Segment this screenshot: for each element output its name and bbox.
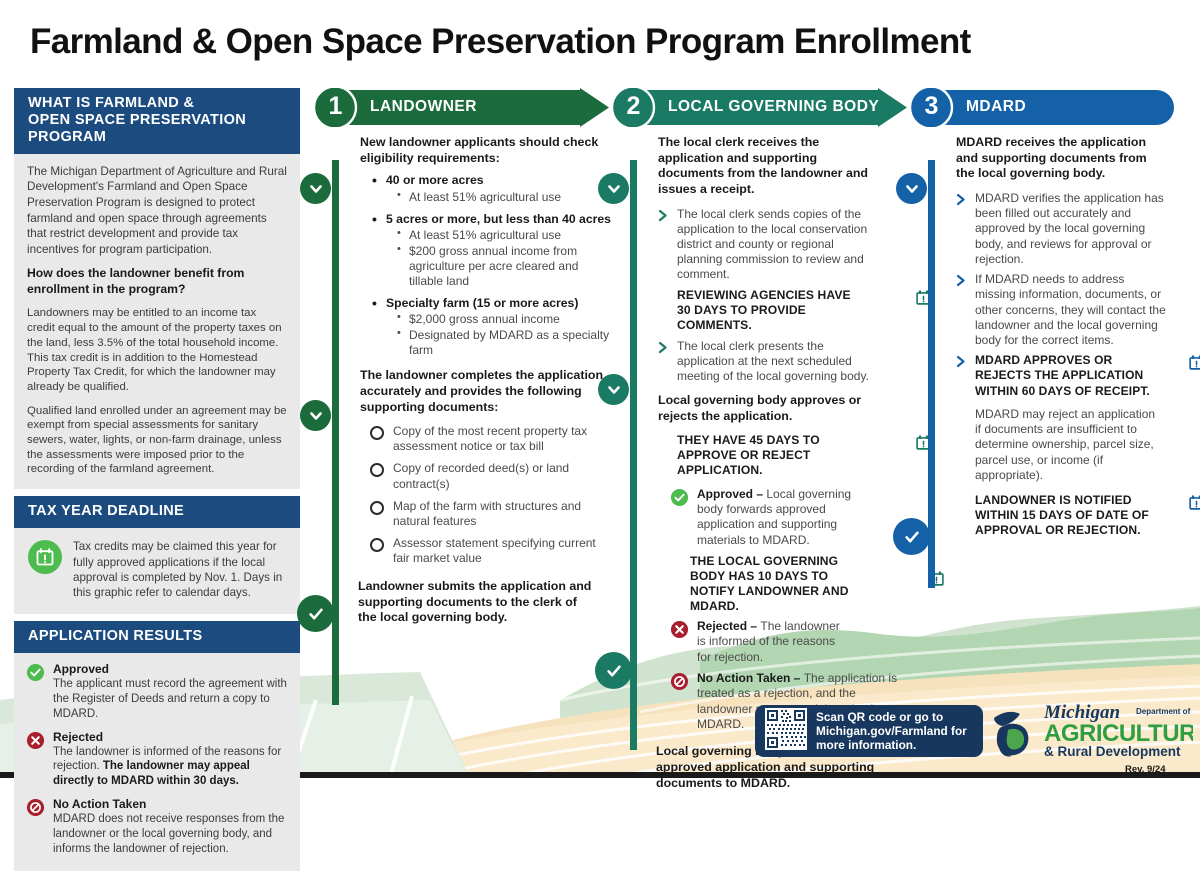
about-question: How does the landowner benefit from enro… <box>27 266 287 297</box>
step-2-label: LOCAL GOVERNING BODY <box>668 88 879 125</box>
results-panel-header: APPLICATION RESULTS <box>14 621 300 653</box>
deadline-panel-header: TAX YEAR DEADLINE <box>14 496 300 528</box>
result-title: Rejected <box>53 730 287 745</box>
step-2-result-title: Rejected – <box>697 619 760 633</box>
step-3-content: MDARD receives the application and suppo… <box>908 125 1188 538</box>
step-3-label: MDARD <box>966 88 1026 125</box>
step-1-eligibility-list: 40 or more acres At least 51% agricultur… <box>372 173 612 358</box>
step-2-result-approved: Approved – Local governing body forwards… <box>670 487 910 548</box>
step-3-final-emphasis: LANDOWNER IS NOTIFIED WITHIN 15 DAYS OF … <box>975 493 1155 538</box>
chevron-right-icon <box>956 274 967 292</box>
document-checkbox-icon[interactable] <box>370 501 384 515</box>
document-checkbox-row[interactable]: Copy of recorded deed(s) or land contrac… <box>370 461 612 491</box>
step-2-lead: The local clerk receives the application… <box>658 135 882 198</box>
step-3-arrow-text-bold: MDARD APPROVES OR REJECTS THE APPLICATIO… <box>975 353 1153 399</box>
step-3-arrow-item: If MDARD needs to address missing inform… <box>956 272 1188 348</box>
eligibility-sub-list: At least 51% agricultural use $200 gross… <box>396 228 612 289</box>
step-1-node-check <box>297 595 334 632</box>
step-2-result-title: No Action Taken – <box>697 671 804 685</box>
result-desc: The landowner is informed of the reasons… <box>53 745 287 790</box>
document-checkbox-row[interactable]: Copy of the most recent property tax ass… <box>370 424 612 454</box>
step-1-node-chevron-2 <box>300 400 331 431</box>
qr-line-2: Michigan.gov/Farmland for <box>816 724 967 738</box>
step-3-rail <box>928 160 935 588</box>
step-2-result-title: Approved – <box>697 487 766 501</box>
step-2-emphasis-3: THE LOCAL GOVERNING BODY HAS 10 DAYS TO … <box>690 554 862 614</box>
step-2-node-chevron-1 <box>598 173 629 204</box>
document-checkbox-row[interactable]: Assessor statement specifying current fa… <box>370 536 612 566</box>
result-approved: Approved The applicant must record the a… <box>26 662 287 722</box>
step-3-arrow-item: MDARD APPROVES OR REJECTS THE APPLICATIO… <box>956 353 1188 399</box>
step-2-emphasis-2: THEY HAVE 45 DAYS TO APPROVE OR REJECT A… <box>677 433 867 478</box>
eligibility-bullet-label: Specialty farm (15 or more acres) <box>386 296 578 310</box>
eligibility-sub: $2,000 gross annual income <box>396 312 612 327</box>
chevron-right-icon <box>658 209 669 227</box>
qr-code-icon[interactable] <box>765 708 807 755</box>
step-3-arrow-text: MDARD verifies the application has been … <box>975 191 1167 267</box>
results-panel-body: Approved The applicant must record the a… <box>14 653 300 871</box>
revision-label: Rev. 9/24 <box>1125 764 1166 775</box>
step-2-arrow-text: The local clerk presents the application… <box>677 339 881 385</box>
calendar-alert-icon <box>1188 494 1200 516</box>
document-checkbox-icon[interactable] <box>370 538 384 552</box>
deadline-text: Tax credits may be claimed this year for… <box>73 538 287 601</box>
step-2-arrow-item: The local clerk sends copies of the appl… <box>658 207 910 283</box>
document-checkbox-icon[interactable] <box>370 426 384 440</box>
step-2-arrow-item: The local clerk presents the application… <box>658 339 910 385</box>
step-1-number: 1 <box>315 86 356 127</box>
step-2-column: 2 LOCAL GOVERNING BODY The local clerk r… <box>610 88 910 725</box>
step-3-arrow-item: MDARD verifies the application has been … <box>956 191 1188 267</box>
step-2-rail <box>630 160 637 750</box>
document-checkbox-row[interactable]: Map of the farm with structures and natu… <box>370 499 612 529</box>
step-1-final: Landowner submits the application and su… <box>358 579 596 626</box>
qr-text: Scan QR code or go to Michigan.gov/Farml… <box>816 710 967 752</box>
step-1-rail <box>332 160 339 705</box>
step-3-arrow-list: MDARD verifies the application has been … <box>956 191 1188 399</box>
step-1-node-chevron-1 <box>300 173 331 204</box>
step-3-lead: MDARD receives the application and suppo… <box>956 135 1160 182</box>
chevron-right-icon <box>956 355 967 373</box>
logo-agriculture: AGRICULTURE <box>1044 720 1193 747</box>
about-paragraph-2: Landowners may be entitled to an income … <box>27 306 287 394</box>
eligibility-sub: $200 gross annual income from agricultur… <box>396 244 612 289</box>
result-title: No Action Taken <box>53 797 287 812</box>
about-heading-line1: WHAT IS FARMLAND & <box>28 95 288 112</box>
no-action-icon <box>670 672 689 691</box>
result-desc: MDARD does not receive responses from th… <box>53 812 287 857</box>
step-1-column: 1 LANDOWNER New landowner applicants sho… <box>312 88 612 685</box>
eligibility-bullet-label: 40 or more acres <box>386 173 484 187</box>
logo-dept-of: Department of <box>1136 707 1191 716</box>
document-checkbox-icon[interactable] <box>370 463 384 477</box>
step-2-arrow-text: The local clerk sends copies of the appl… <box>677 207 873 283</box>
step-2-lead-2: Local governing body approves or rejects… <box>658 393 874 424</box>
step-3-header: 3 MDARD <box>908 88 1188 125</box>
step-1-documents-list: Copy of the most recent property tax ass… <box>360 424 612 566</box>
step-1-header: 1 LANDOWNER <box>312 88 612 125</box>
step-2-node-chevron-2 <box>598 374 629 405</box>
eligibility-sub: Designated by MDARD as a specialty farm <box>396 328 612 358</box>
rejected-x-icon <box>26 731 45 750</box>
eligibility-bullet: Specialty farm (15 or more acres) $2,000… <box>372 296 612 358</box>
step-1-lead: New landowner applicants should check el… <box>360 135 612 166</box>
step-3-note: MDARD may reject an application if docum… <box>975 407 1161 483</box>
step-2-node-check <box>595 652 632 689</box>
about-heading-line2: OPEN SPACE PRESERVATION PROGRAM <box>28 112 288 146</box>
about-paragraph-3: Qualified land enrolled under an agreeme… <box>27 404 287 478</box>
document-label: Copy of recorded deed(s) or land contrac… <box>393 461 612 491</box>
document-label: Map of the farm with structures and natu… <box>393 499 612 529</box>
chevron-right-icon <box>658 341 669 359</box>
eligibility-sub: At least 51% agricultural use <box>396 190 612 205</box>
step-2-content: The local clerk receives the application… <box>610 125 910 791</box>
result-rejected: Rejected The landowner is informed of th… <box>26 730 287 790</box>
no-action-icon <box>26 798 45 817</box>
step-2-results-list: Approved – Local governing body forwards… <box>658 487 910 733</box>
result-no-action: No Action Taken MDARD does not receive r… <box>26 797 287 857</box>
eligibility-sub-list: $2,000 gross annual income Designated by… <box>396 312 612 358</box>
result-title: Approved <box>53 662 287 677</box>
deadline-panel-body: Tax credits may be claimed this year for… <box>14 528 300 614</box>
step-2-result-rejected: Rejected – The landowner is informed of … <box>670 619 910 665</box>
qr-callout[interactable]: Scan QR code or go to Michigan.gov/Farml… <box>755 705 983 757</box>
step-3-arrow-text: If MDARD needs to address missing inform… <box>975 272 1167 348</box>
rejected-x-icon <box>670 620 689 639</box>
eligibility-sub: At least 51% agricultural use <box>396 228 612 243</box>
approved-check-icon <box>26 663 45 682</box>
step-3-number: 3 <box>911 86 952 127</box>
about-paragraph-1: The Michigan Department of Agriculture a… <box>27 164 287 257</box>
step-1-content: New landowner applicants should check el… <box>312 125 612 626</box>
eligibility-bullet-label: 5 acres or more, but less than 40 acres <box>386 212 611 226</box>
step-1-lead-2: The landowner completes the application … <box>360 368 612 415</box>
calendar-alert-icon <box>28 540 62 574</box>
document-label: Copy of the most recent property tax ass… <box>393 424 612 454</box>
document-label: Assessor statement specifying current fa… <box>393 536 612 566</box>
step-3-node-check <box>893 518 930 555</box>
step-2-header: 2 LOCAL GOVERNING BODY <box>610 88 910 125</box>
step-2-number: 2 <box>613 86 654 127</box>
result-desc: The applicant must record the agreement … <box>53 677 287 722</box>
step-2-emphasis-1: REVIEWING AGENCIES HAVE 30 DAYS TO PROVI… <box>677 288 865 333</box>
step-3-column: 3 MDARD MDARD receives the application a… <box>908 88 1188 575</box>
sidebar: WHAT IS FARMLAND & OPEN SPACE PRESERVATI… <box>14 88 300 871</box>
about-panel-header: WHAT IS FARMLAND & OPEN SPACE PRESERVATI… <box>14 88 300 154</box>
qr-line-1: Scan QR code or go to <box>816 710 967 724</box>
eligibility-sub-list: At least 51% agricultural use <box>396 190 612 205</box>
eligibility-bullet: 40 or more acres At least 51% agricultur… <box>372 173 612 204</box>
page-title: Farmland & Open Space Preservation Progr… <box>30 22 971 62</box>
eligibility-bullet: 5 acres or more, but less than 40 acres … <box>372 212 612 289</box>
approved-check-icon <box>670 488 689 507</box>
calendar-alert-icon <box>1188 354 1200 376</box>
mdard-logo: Michigan Department of AGRICULTURE & Rur… <box>988 700 1193 767</box>
step-1-label: LANDOWNER <box>370 88 477 125</box>
about-panel-body: The Michigan Department of Agriculture a… <box>14 154 300 489</box>
chevron-right-icon <box>956 193 967 211</box>
step-3-node-chevron <box>896 173 927 204</box>
qr-line-3: more information. <box>816 738 967 752</box>
logo-rural-development: & Rural Development <box>1044 744 1181 759</box>
